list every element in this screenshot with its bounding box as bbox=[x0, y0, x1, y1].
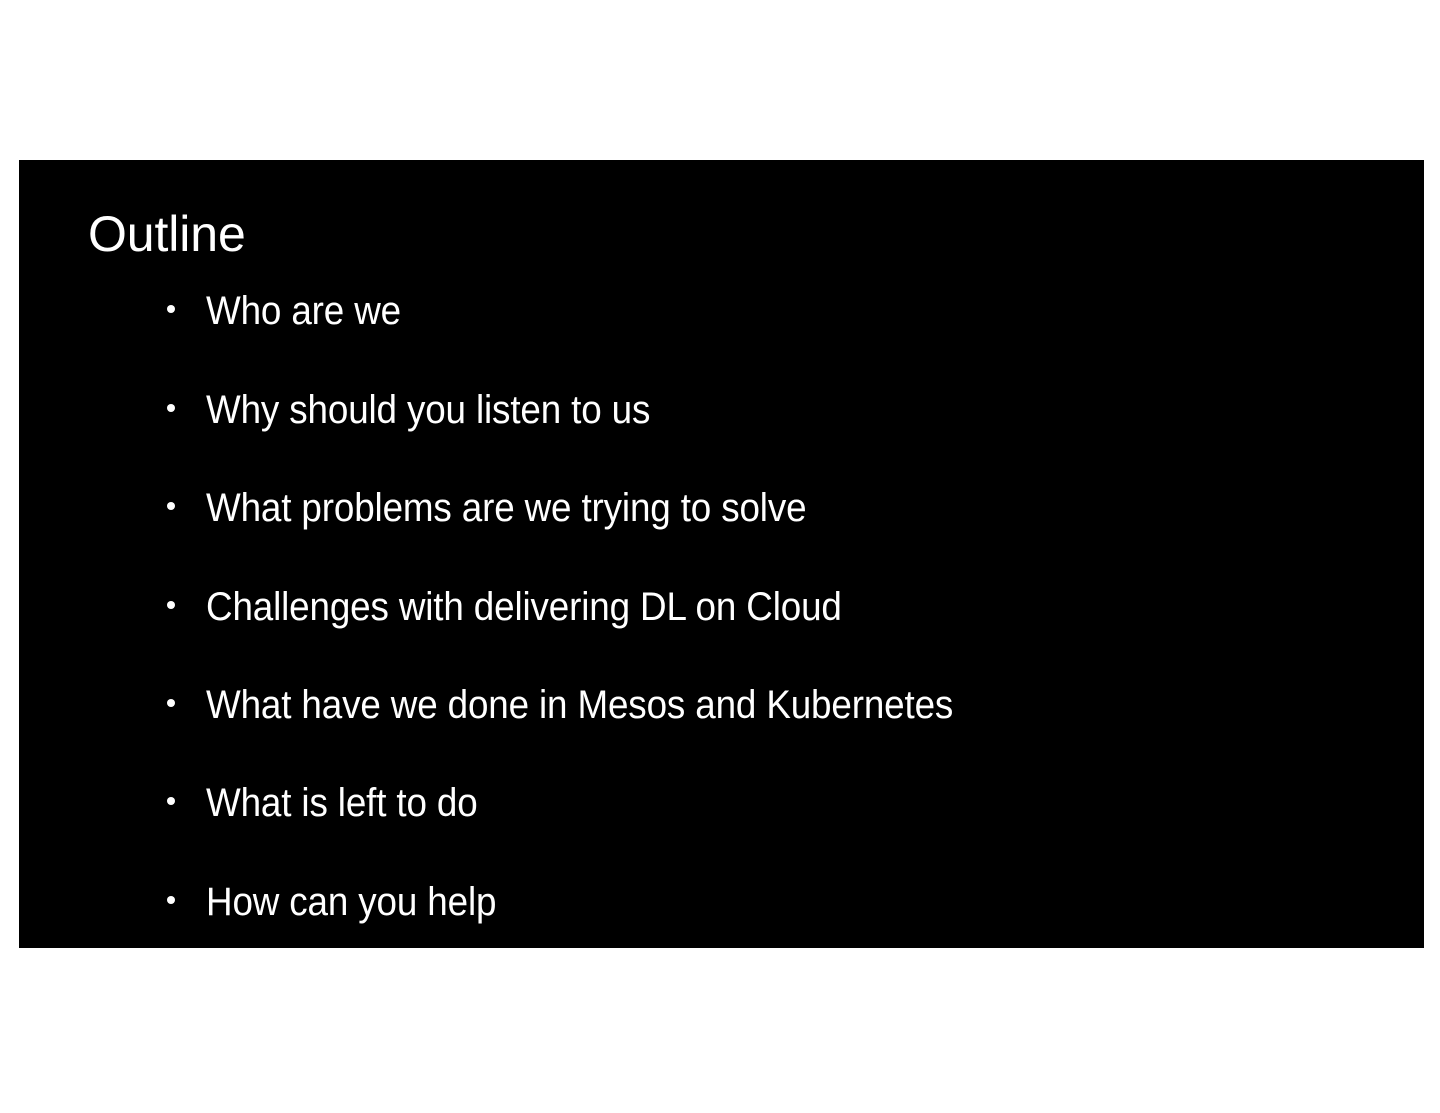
list-item-label: What problems are we trying to solve bbox=[206, 485, 806, 531]
list-item: Who are we bbox=[164, 288, 1404, 338]
list-item: Challenges with delivering DL on Cloud bbox=[164, 584, 1404, 634]
list-item: How can you help bbox=[164, 879, 1404, 929]
list-item-label: How can you help bbox=[206, 879, 496, 925]
bullet-dot-icon bbox=[167, 699, 175, 707]
list-item: Why should you listen to us bbox=[164, 387, 1404, 437]
slide-title: Outline bbox=[88, 204, 246, 264]
bullet-dot-icon bbox=[167, 896, 175, 904]
list-item-label: Who are we bbox=[206, 288, 401, 334]
bullet-dot-icon bbox=[167, 502, 175, 510]
list-item: What is left to do bbox=[164, 780, 1404, 830]
list-item-label: Challenges with delivering DL on Cloud bbox=[206, 584, 842, 630]
list-item: What have we done in Mesos and Kubernete… bbox=[164, 682, 1404, 732]
list-item-label: What have we done in Mesos and Kubernete… bbox=[206, 682, 953, 728]
list-item: What problems are we trying to solve bbox=[164, 485, 1404, 535]
presentation-slide: Outline Who are we Why should you listen… bbox=[19, 160, 1424, 948]
bullet-dot-icon bbox=[167, 404, 175, 412]
bullet-dot-icon bbox=[167, 601, 175, 609]
list-item-label: What is left to do bbox=[206, 780, 478, 826]
bullet-dot-icon bbox=[167, 305, 175, 313]
list-item-label: Why should you listen to us bbox=[206, 387, 650, 433]
bullet-dot-icon bbox=[167, 797, 175, 805]
slide-canvas: Outline Who are we Why should you listen… bbox=[0, 0, 1440, 1113]
